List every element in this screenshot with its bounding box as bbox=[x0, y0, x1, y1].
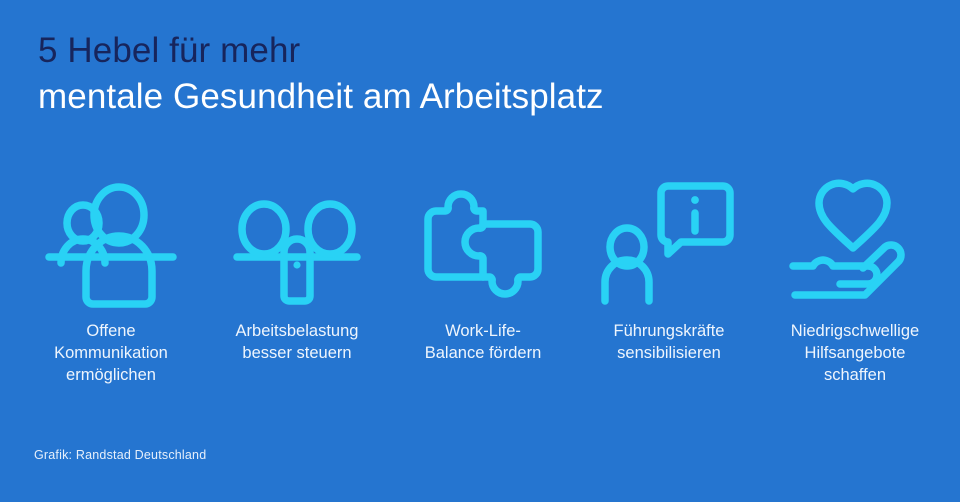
lever-item-fuehrungskraefte: Führungskräfte sensibilisieren bbox=[576, 178, 762, 364]
lever-item-work-life-balance: Work-Life- Balance fördern bbox=[390, 178, 576, 364]
label-line-1: Niedrigschwellige bbox=[765, 320, 945, 342]
lever-columns: Offene Kommunikation ermöglichen Arbeits… bbox=[18, 178, 948, 386]
label-line-2: Kommunikation bbox=[21, 342, 201, 364]
label-line-3: ermöglichen bbox=[21, 364, 201, 386]
puzzle-pieces-icon bbox=[413, 178, 553, 308]
label-line-3: schaffen bbox=[765, 364, 945, 386]
label-line-1: Work-Life- bbox=[393, 320, 573, 342]
lever-label: Arbeitsbelastung besser steuern bbox=[207, 320, 387, 364]
label-line-1: Offene bbox=[21, 320, 201, 342]
label-line-2: Balance fördern bbox=[393, 342, 573, 364]
two-people-icon bbox=[41, 178, 181, 308]
lever-label: Niedrigschwellige Hilfsangebote schaffen bbox=[765, 320, 945, 386]
label-line-2: sensibilisieren bbox=[579, 342, 759, 364]
source-credit: Grafik: Randstad Deutschland bbox=[34, 448, 206, 462]
lever-item-offene-kommunikation: Offene Kommunikation ermöglichen bbox=[18, 178, 204, 386]
label-line-2: Hilfsangebote bbox=[765, 342, 945, 364]
page-title: 5 Hebel für mehr mentale Gesundheit am A… bbox=[38, 28, 918, 121]
lever-label: Führungskräfte sensibilisieren bbox=[579, 320, 759, 364]
label-line-1: Führungskräfte bbox=[579, 320, 759, 342]
person-info-bubble-icon bbox=[599, 178, 739, 308]
balance-scale-icon bbox=[227, 178, 367, 308]
label-line-2: besser steuern bbox=[207, 342, 387, 364]
heart-in-hand-icon bbox=[785, 178, 925, 308]
lever-label: Offene Kommunikation ermöglichen bbox=[21, 320, 201, 386]
title-line-2: mentale Gesundheit am Arbeitsplatz bbox=[38, 73, 918, 121]
infographic-canvas: 5 Hebel für mehr mentale Gesundheit am A… bbox=[0, 0, 960, 502]
lever-item-hilfsangebote: Niedrigschwellige Hilfsangebote schaffen bbox=[762, 178, 948, 386]
lever-label: Work-Life- Balance fördern bbox=[393, 320, 573, 364]
label-line-1: Arbeitsbelastung bbox=[207, 320, 387, 342]
title-line-1: 5 Hebel für mehr bbox=[38, 28, 918, 73]
lever-item-arbeitsbelastung: Arbeitsbelastung besser steuern bbox=[204, 178, 390, 364]
